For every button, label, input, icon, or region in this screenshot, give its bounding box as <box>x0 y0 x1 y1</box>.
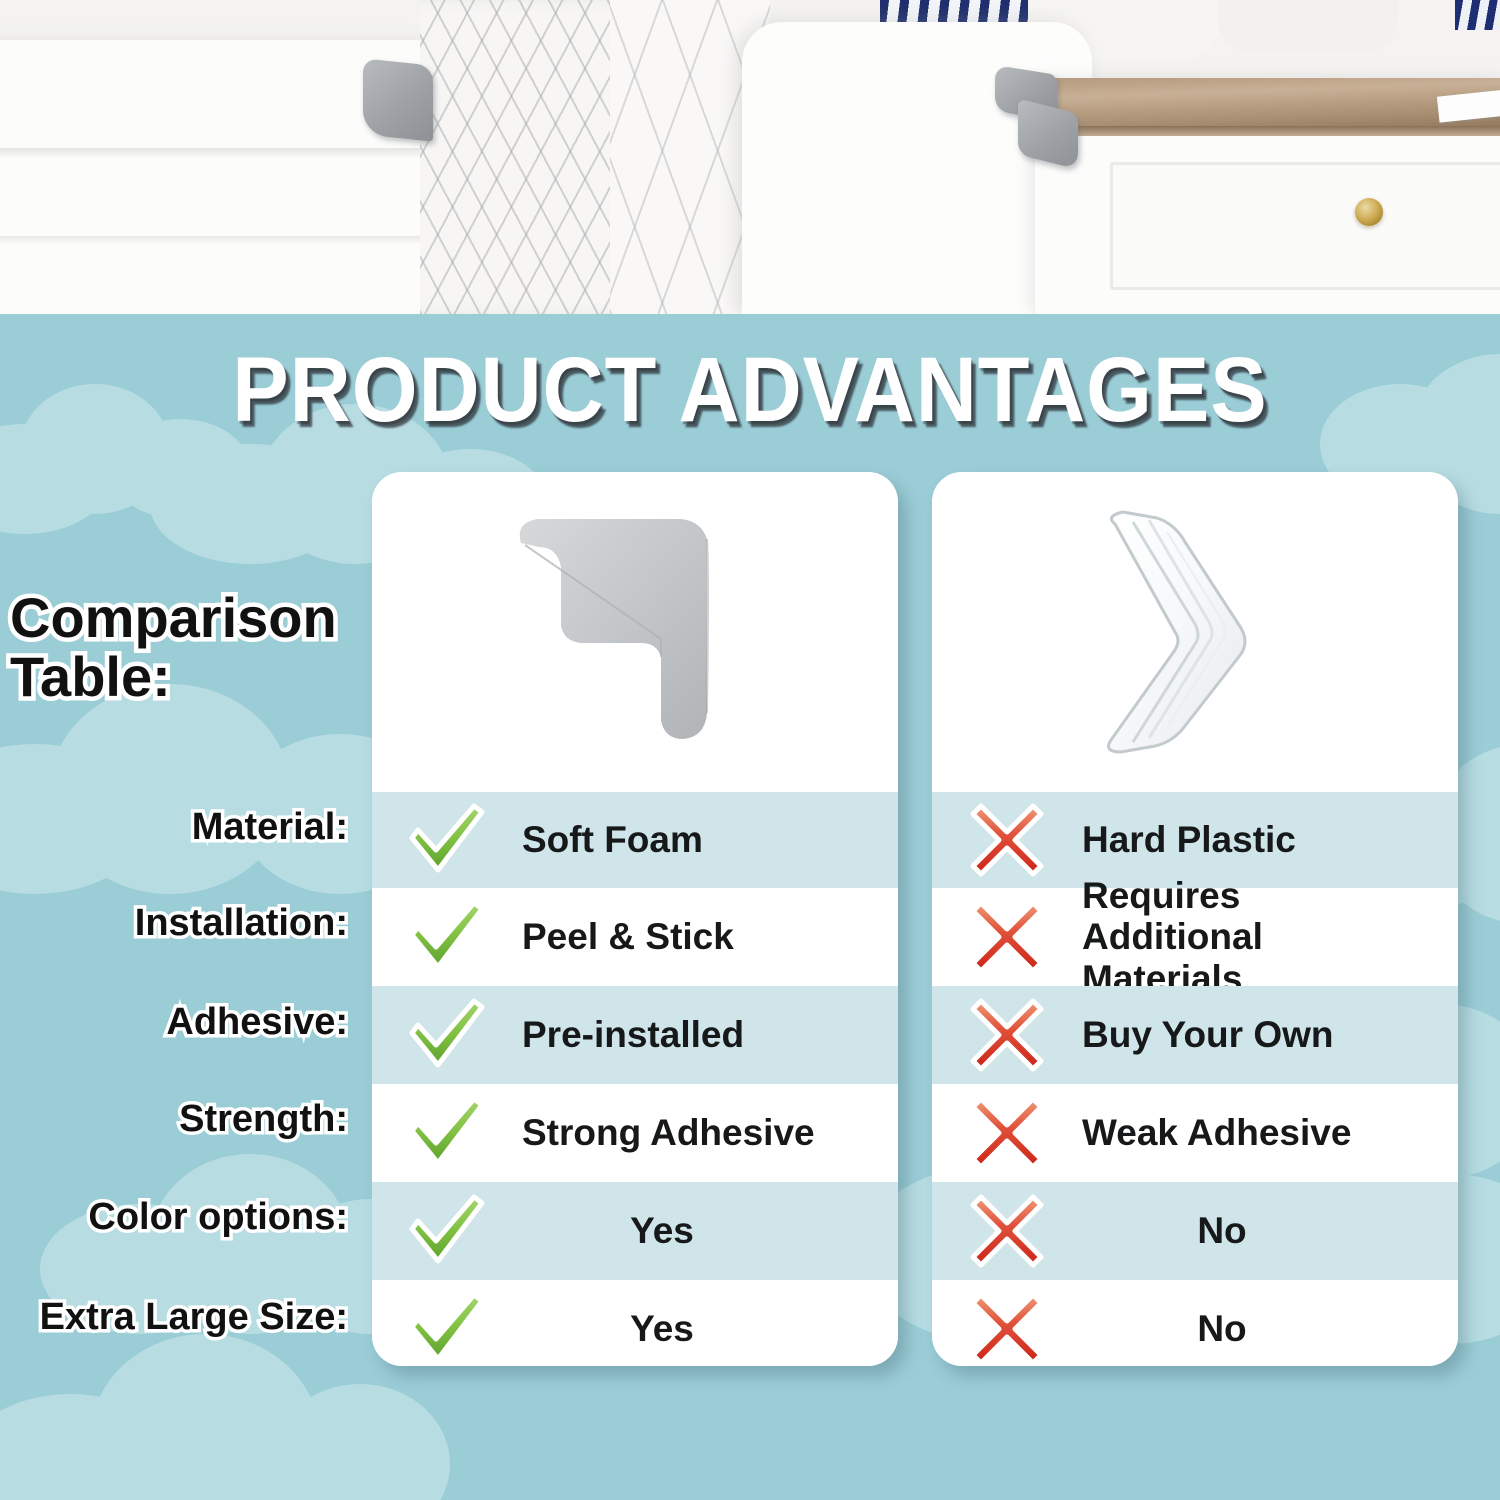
comparison-rows-hard-plastic: Hard Plastic Requires Additional Materia… <box>932 792 1458 1366</box>
photo-cushion-b <box>1218 0 1398 52</box>
row-label-extra-large-size: Extra Large Size: <box>40 1296 348 1339</box>
cell-value: Yes <box>426 1308 898 1349</box>
page-title: PRODUCT ADVANTAGES <box>60 338 1440 443</box>
cell-value: Requires Additional Materials <box>1082 875 1412 999</box>
cell-value: Buy Your Own <box>1082 1014 1333 1055</box>
row-label-color-options: Color options: <box>88 1196 348 1239</box>
product-advantages-infographic: PRODUCT ADVANTAGES Comparison Table: Mat… <box>0 0 1500 1500</box>
comparison-heading-line2: Table: <box>10 647 362 706</box>
table-row: Strong Adhesive <box>372 1084 898 1182</box>
red-x-icon <box>932 897 1082 977</box>
comparison-heading-line1: Comparison <box>10 588 362 647</box>
photo-sofa-seam-lower <box>0 236 440 244</box>
installed-corner-guard-icon <box>363 58 433 141</box>
table-row: Hard Plastic <box>932 792 1458 888</box>
green-check-icon <box>372 1093 522 1173</box>
table-row: No <box>932 1280 1458 1366</box>
table-row: No <box>932 1182 1458 1280</box>
comparison-card-soft-foam: Soft Foam Peel & Stick Pre-installed <box>372 472 898 1366</box>
comparison-rows-soft-foam: Soft Foam Peel & Stick Pre-installed <box>372 792 898 1366</box>
product-image-plastic-guard <box>932 472 1458 792</box>
photo-drawer-knob <box>1355 198 1383 226</box>
comparison-table-heading: Comparison Table: <box>10 588 362 707</box>
table-row: Peel & Stick <box>372 888 898 986</box>
photo-table-drawer <box>1110 162 1500 290</box>
lifestyle-photo <box>0 0 1500 314</box>
cell-value: Weak Adhesive <box>1082 1112 1351 1153</box>
gray-foam-corner-guard-icon <box>485 507 785 757</box>
cell-value: No <box>986 1210 1458 1251</box>
cell-value: No <box>986 1308 1458 1349</box>
cell-value: Hard Plastic <box>1082 819 1296 860</box>
cell-value: Yes <box>426 1210 898 1251</box>
red-x-icon <box>932 800 1082 880</box>
product-image-foam-guard <box>372 472 898 792</box>
photo-sofa-seam <box>0 148 440 158</box>
table-row: Yes <box>372 1182 898 1280</box>
table-row: Soft Foam <box>372 792 898 888</box>
cell-value: Soft Foam <box>522 819 703 860</box>
cell-value: Strong Adhesive <box>522 1112 815 1153</box>
row-label-material: Material: <box>192 806 348 849</box>
green-check-icon <box>372 897 522 977</box>
photo-table-wood-top <box>1035 78 1500 130</box>
row-label-installation: Installation: <box>135 902 348 945</box>
table-row: Pre-installed <box>372 986 898 1084</box>
red-x-icon <box>932 995 1082 1075</box>
row-label-adhesive: Adhesive: <box>166 1001 348 1044</box>
table-row: Yes <box>372 1280 898 1366</box>
table-row: Buy Your Own <box>932 986 1458 1084</box>
photo-striped-pillow-right <box>1455 0 1500 30</box>
green-check-icon <box>372 800 522 880</box>
cell-value: Pre-installed <box>522 1014 744 1055</box>
cell-value: Peel & Stick <box>522 916 734 957</box>
comparison-card-hard-plastic: Hard Plastic Requires Additional Materia… <box>932 472 1458 1366</box>
photo-table-wood-edge <box>1035 126 1500 136</box>
row-label-strength: Strength: <box>179 1098 348 1141</box>
table-row: Requires Additional Materials <box>932 888 1458 986</box>
clear-plastic-corner-guard-icon <box>1045 502 1345 762</box>
red-x-icon <box>932 1093 1082 1173</box>
green-check-icon <box>372 995 522 1075</box>
table-row: Weak Adhesive <box>932 1084 1458 1182</box>
